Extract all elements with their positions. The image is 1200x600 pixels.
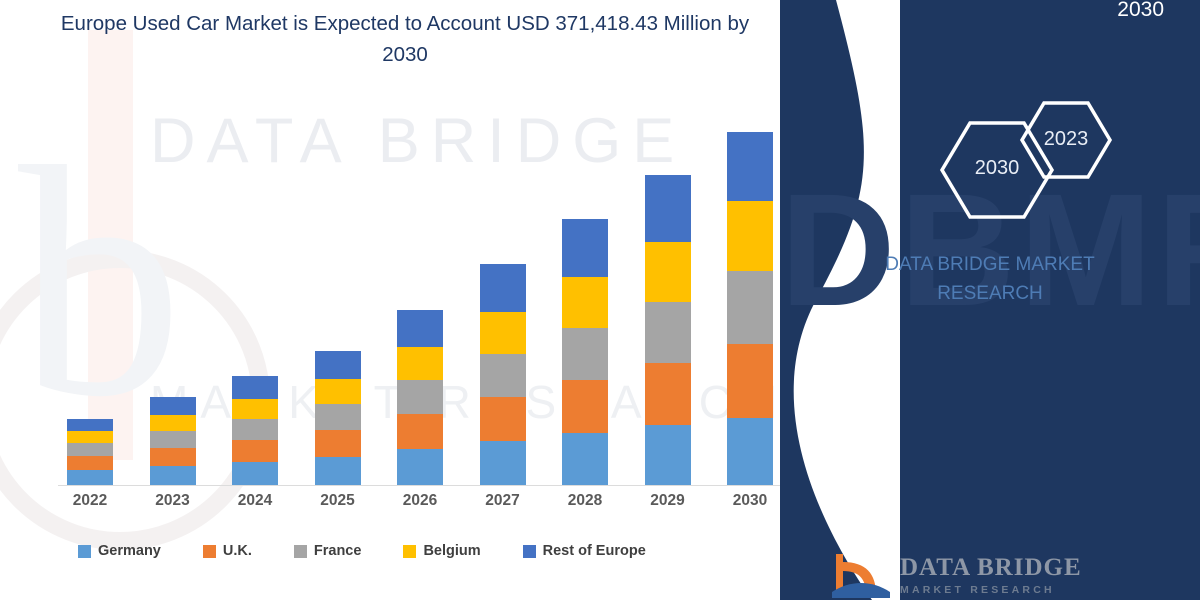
panel-brand-line1: DATA BRIDGE MARKET: [780, 250, 1200, 279]
bar-segment-belgium: [562, 277, 608, 328]
legend-swatch-icon: [203, 545, 216, 558]
bar-column-2026: [392, 310, 448, 485]
legend-item-u-k[interactable]: U.K.: [203, 543, 252, 559]
bar-segment-rest-of-europe: [150, 397, 196, 415]
x-axis-label-2029: 2029: [640, 492, 696, 520]
bar-segment-belgium: [397, 347, 443, 380]
x-axis-label-2026: 2026: [392, 492, 448, 520]
bar-segment-u-k: [645, 363, 691, 425]
bar-segment-france: [315, 404, 361, 430]
logo-name: DATA BRIDGE: [900, 554, 1082, 582]
stacked-bar: [727, 132, 773, 485]
bar-segment-france: [562, 328, 608, 380]
company-logo: DATA BRIDGE MARKET RESEARCH: [832, 552, 1172, 600]
stacked-bar: [315, 351, 361, 485]
bar-segment-u-k: [397, 414, 443, 449]
bar-segment-germany: [562, 433, 608, 485]
legend-label: Rest of Europe: [543, 543, 646, 559]
x-axis-label-2030: 2030: [722, 492, 778, 520]
stacked-bar: [480, 264, 526, 485]
bar-segment-france: [150, 431, 196, 448]
bar-segment-u-k: [232, 440, 278, 462]
legend-item-belgium[interactable]: Belgium: [403, 543, 480, 559]
bar-segment-france: [232, 419, 278, 440]
legend-swatch-icon: [523, 545, 536, 558]
bar-segment-germany: [645, 425, 691, 485]
bar-segment-rest-of-europe: [315, 351, 361, 379]
bar-column-2027: [475, 264, 531, 485]
stacked-bar: [562, 219, 608, 485]
legend-swatch-icon: [403, 545, 416, 558]
bar-segment-germany: [315, 457, 361, 485]
x-axis-line: [58, 485, 783, 486]
bar-segment-germany: [67, 470, 113, 485]
bar-group: [50, 100, 790, 485]
bar-segment-u-k: [150, 448, 196, 466]
legend-swatch-icon: [294, 545, 307, 558]
bar-column-2030: [722, 132, 778, 485]
bar-column-2025: [310, 351, 366, 485]
stacked-bar: [67, 419, 113, 485]
bar-segment-rest-of-europe: [562, 219, 608, 277]
hexagon-pair: 2030 2023: [920, 95, 1140, 235]
bar-segment-belgium: [232, 399, 278, 419]
bar-column-2022: [62, 419, 118, 485]
bar-segment-u-k: [315, 430, 361, 457]
logo-subtitle: MARKET RESEARCH: [900, 584, 1055, 596]
chart-legend: GermanyU.K.FranceBelgiumRest of Europe: [78, 538, 778, 564]
bar-segment-rest-of-europe: [232, 376, 278, 399]
bar-segment-germany: [150, 466, 196, 485]
bar-segment-france: [727, 271, 773, 344]
bar-segment-belgium: [645, 242, 691, 302]
bar-segment-france: [480, 354, 526, 397]
x-axis-label-2027: 2027: [475, 492, 531, 520]
bar-segment-u-k: [727, 344, 773, 418]
legend-item-rest-of-europe[interactable]: Rest of Europe: [523, 543, 646, 559]
legend-item-france[interactable]: France: [294, 543, 362, 559]
branding-panel: DBMR 2030 2030 2023 DATA BRIDGE MARKET R…: [780, 0, 1200, 600]
bar-segment-france: [645, 302, 691, 363]
bar-segment-u-k: [67, 456, 113, 470]
hexagon-back-label: 2030: [944, 157, 1050, 180]
bridge-logo-icon: [832, 552, 890, 598]
bar-segment-france: [67, 443, 113, 456]
bar-segment-belgium: [727, 201, 773, 271]
x-axis-label-2023: 2023: [145, 492, 201, 520]
chart-panel: b DATA BRIDGE MARKET RESEARCH Europe Use…: [0, 0, 860, 600]
legend-label: U.K.: [223, 543, 252, 559]
legend-label: Germany: [98, 543, 161, 559]
x-axis-label-2024: 2024: [227, 492, 283, 520]
hexagon-front-label: 2023: [1023, 128, 1109, 151]
bar-segment-belgium: [67, 431, 113, 443]
stacked-bar: [645, 175, 691, 485]
stacked-bar: [150, 397, 196, 485]
bar-segment-rest-of-europe: [645, 175, 691, 242]
x-axis-label-2028: 2028: [557, 492, 613, 520]
bar-segment-belgium: [150, 415, 196, 431]
bar-segment-germany: [727, 418, 773, 485]
legend-item-germany[interactable]: Germany: [78, 543, 161, 559]
bar-segment-u-k: [562, 380, 608, 433]
chart-title: Europe Used Car Market is Expected to Ac…: [60, 8, 750, 70]
stacked-bar: [397, 310, 443, 485]
legend-label: France: [314, 543, 362, 559]
legend-swatch-icon: [78, 545, 91, 558]
bar-segment-france: [397, 380, 443, 414]
bar-column-2028: [557, 219, 613, 485]
panel-brand: DATA BRIDGE MARKET RESEARCH: [780, 250, 1200, 308]
x-axis-labels: 202220232024202520262027202820292030: [50, 492, 790, 520]
stacked-bar: [232, 376, 278, 485]
bar-segment-u-k: [480, 397, 526, 441]
bar-segment-rest-of-europe: [397, 310, 443, 347]
infographic-root: b DATA BRIDGE MARKET RESEARCH Europe Use…: [0, 0, 1200, 600]
plot-area: [50, 100, 790, 486]
bar-segment-rest-of-europe: [480, 264, 526, 312]
bar-column-2029: [640, 175, 696, 485]
bar-column-2023: [145, 397, 201, 485]
x-axis-label-2025: 2025: [310, 492, 366, 520]
panel-brand-line2: RESEARCH: [780, 279, 1200, 308]
bar-segment-rest-of-europe: [727, 132, 773, 201]
bar-segment-germany: [480, 441, 526, 485]
bar-column-2024: [227, 376, 283, 485]
bar-segment-germany: [232, 462, 278, 485]
bar-segment-germany: [397, 449, 443, 485]
legend-label: Belgium: [423, 543, 480, 559]
bar-segment-belgium: [315, 379, 361, 404]
x-axis-label-2022: 2022: [62, 492, 118, 520]
bar-segment-belgium: [480, 312, 526, 354]
panel-top-year: 2030: [834, 0, 1164, 23]
bar-segment-rest-of-europe: [67, 419, 113, 431]
